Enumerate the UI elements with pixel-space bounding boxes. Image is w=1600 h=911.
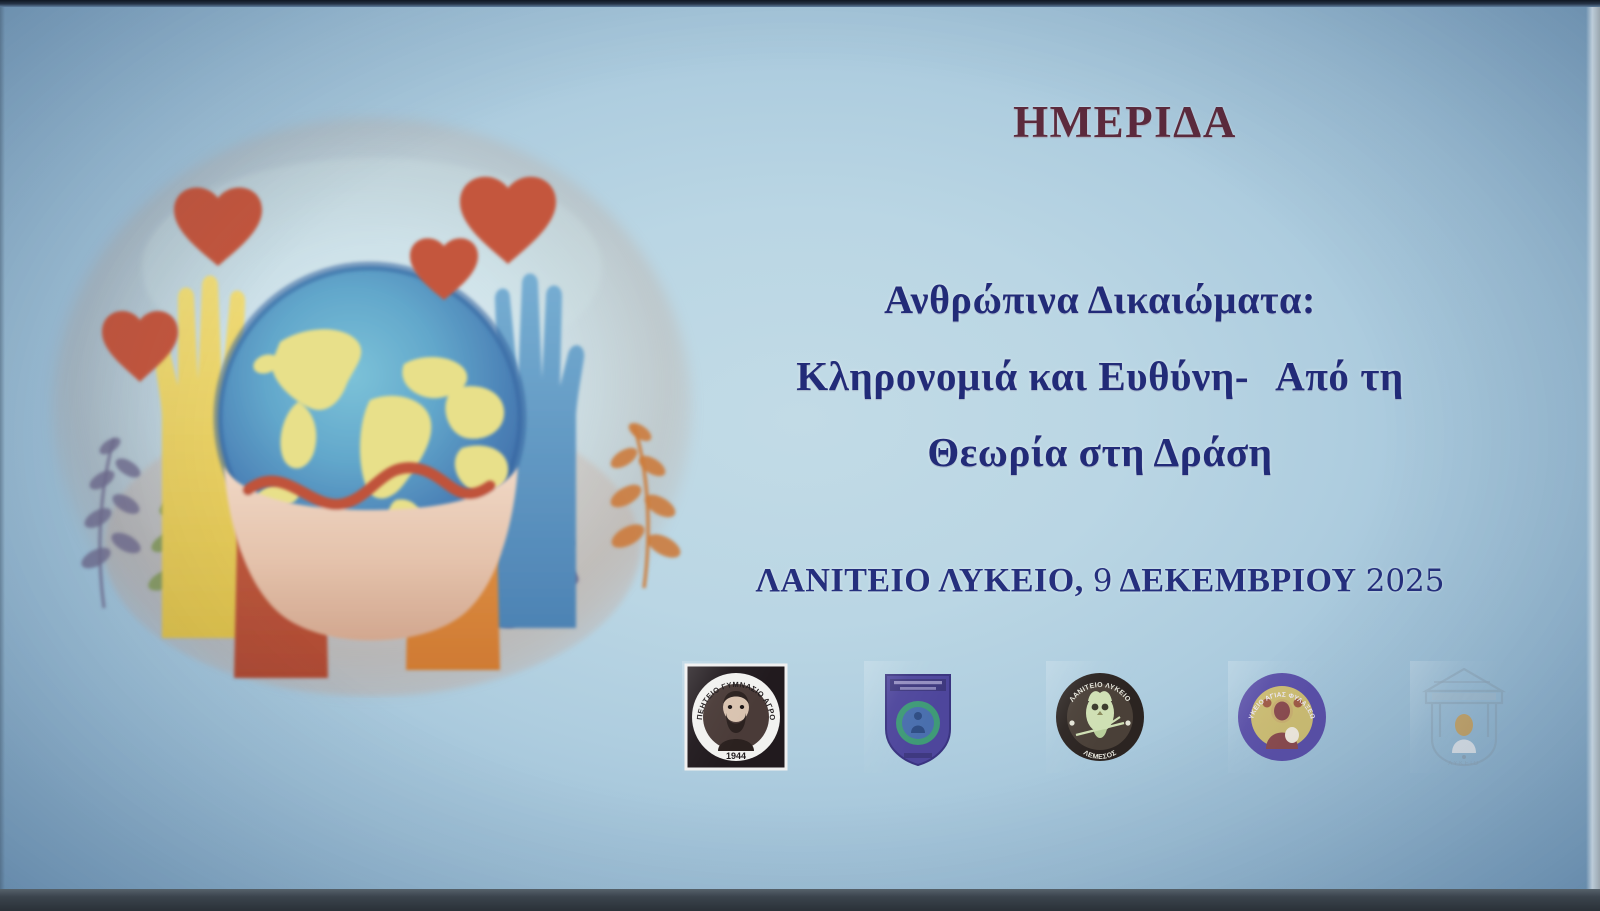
- title-line-2b: Από τη: [1275, 353, 1404, 399]
- logo-apeiteio-gymnasio-agrou: ΑΠΕΗΤΕΙΟ ΓΥΜΝΑΣΙΟ ΑΓΡΟΥ 1944: [682, 661, 790, 773]
- venue-name: ΛΑΝΙΤΕΙΟ ΛΥΚΕΙΟ,: [755, 562, 1083, 599]
- venue-and-date: ΛΑΝΙΤΕΙΟ ΛΥΚΕΙΟ, 9 ΔΕΚΕΜΒΡΙΟΥ 2025: [650, 562, 1550, 600]
- event-month: ΔΕΚΕΜΒΡΙΟΥ: [1120, 562, 1357, 599]
- logo-temple-pediment-crest: ΛΥΚΕΙΟ: [1410, 661, 1518, 773]
- title-line-3: Θεωρία στη Δράση: [927, 429, 1272, 475]
- page-title: ΗΜΕΡΙΔΑ: [700, 96, 1550, 148]
- partner-logos: ΑΠΕΗΤΕΙΟ ΓΥΜΝΑΣΙΟ ΑΓΡΟΥ 1944: [650, 652, 1550, 782]
- svg-text:1944: 1944: [726, 751, 746, 761]
- logo-laniteio-lykeio-lemesos: ΛΑΝΙΤΕΙΟ ΛΥΚΕΙΟ ΛΕΜΕΣΟΣ: [1046, 661, 1154, 773]
- event-year: 2025: [1366, 563, 1445, 599]
- artwork-svg: [52, 118, 692, 698]
- slide-photo: ΗΜΕΡΙΔΑ Ανθρώπινα Δικαιώματα: Κληρονομιά…: [0, 0, 1600, 911]
- event-day: 9: [1093, 563, 1113, 599]
- title-line-2a: Κληρονομιά και Ευθύνη-: [796, 353, 1249, 399]
- logo-shield-crest-purple: [864, 661, 972, 773]
- temple-figure: [1452, 714, 1476, 759]
- photo-edge-left: [0, 7, 5, 889]
- photo-edge-right: [1586, 7, 1600, 889]
- svg-text:ΛΥΚΕΙΟ: ΛΥΚΕΙΟ: [1448, 761, 1480, 767]
- photo-edge-bottom: [0, 889, 1600, 911]
- watercolour-earth-illustration: [52, 118, 692, 698]
- title-line-1: Ανθρώπινα Δικαιώματα:: [884, 277, 1316, 322]
- conference-title: Ανθρώπινα Δικαιώματα: Κληρονομιά και Ευθ…: [650, 262, 1550, 490]
- logo-lykeio-agias-fylaxeos: ΛΥΚΕΙΟ ΑΓΙΑΣ ΦΥΛΑΞΕΩΣ: [1228, 661, 1336, 773]
- photo-edge-top: [0, 0, 1600, 7]
